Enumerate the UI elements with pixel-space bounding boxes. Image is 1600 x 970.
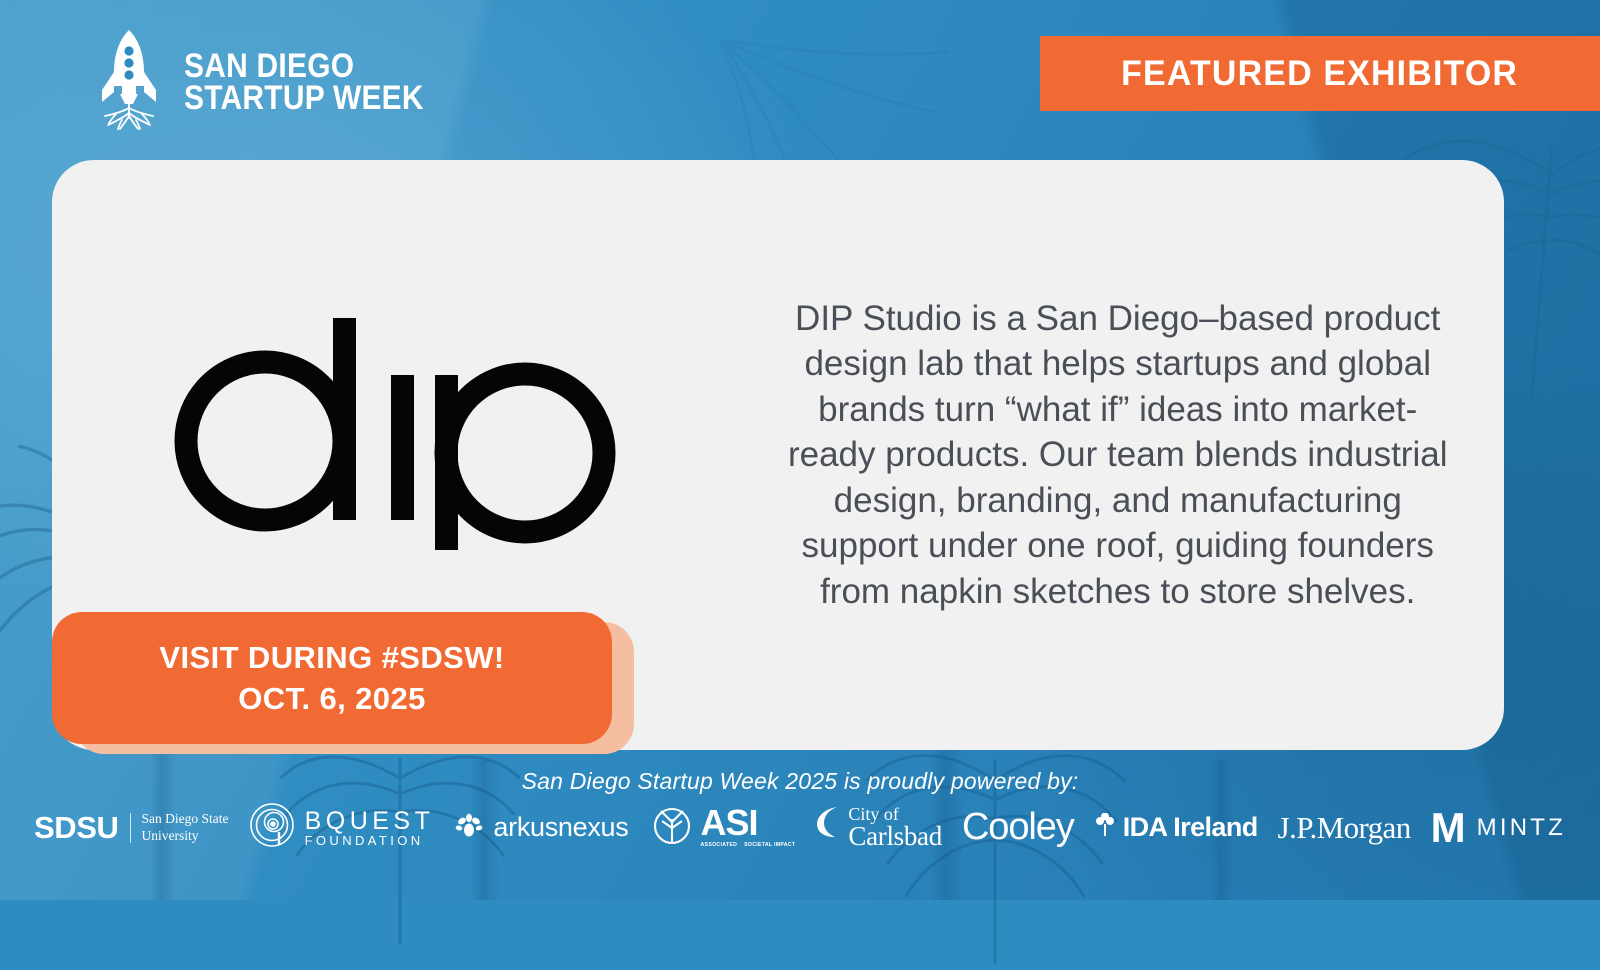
featured-exhibitor-banner: Featured Exhibitor — [1040, 36, 1600, 111]
sdsu-divider — [130, 813, 131, 843]
sdsw-logo: San Diego Startup Week — [92, 28, 456, 137]
sponsor-logo-ida-ireland[interactable]: IDA Ireland — [1094, 812, 1258, 843]
sdsw-wordmark-line1: San Diego — [184, 51, 424, 83]
bquest-subtitle: FOUNDATION — [305, 834, 435, 848]
mintz-m-icon: M — [1431, 811, 1466, 845]
ida-shamrock-icon — [1094, 813, 1116, 842]
sponsor-logo-jpmorgan[interactable]: J.P.Morgan — [1278, 810, 1411, 846]
arkusnexus-wordmark: arkusnexus — [493, 812, 628, 843]
mintz-wordmark: MINTZ — [1477, 814, 1566, 842]
sponsor-logo-row: SDSU San Diego State University — [0, 802, 1600, 853]
sponsor-logo-cooley[interactable]: Cooley — [962, 806, 1074, 849]
sponsor-logo-mintz[interactable]: M MINTZ — [1431, 811, 1566, 845]
visit-during-sdsw-button[interactable]: Visit During #SDSW! Oct. 6, 2025 — [52, 612, 612, 744]
bquest-wordmark: BQUEST — [305, 808, 435, 834]
sponsor-footer: San Diego Startup Week 2025 is proudly p… — [0, 760, 1600, 900]
sponsor-logo-bquest[interactable]: BQUEST FOUNDATION — [249, 802, 435, 853]
featured-exhibitor-label: Featured Exhibitor — [1122, 54, 1519, 94]
visit-cta-wrapper: Visit During #SDSW! Oct. 6, 2025 — [52, 612, 612, 744]
asi-subtitle-line1: ASSOCIATED — [701, 842, 738, 848]
asi-subtitle-line2: SOCIETAL IMPACT — [744, 842, 795, 848]
company-description-pane: DIP Studio is a San Diego–based product … — [763, 160, 1504, 750]
arkusnexus-bug-icon — [454, 810, 484, 845]
bquest-spiral-icon — [249, 802, 295, 853]
sdsu-subtitle: San Diego State University — [142, 811, 229, 844]
carlsbad-crescent-icon — [815, 805, 843, 844]
sponsor-logo-arkusnexus[interactable]: arkusnexus — [454, 810, 628, 845]
asi-tree-icon — [649, 802, 695, 853]
cooley-wordmark: Cooley — [962, 806, 1074, 849]
ida-ireland-wordmark: IDA Ireland — [1123, 812, 1258, 843]
cta-line-1: Visit During #SDSW! — [159, 640, 504, 676]
sponsor-logo-city-of-carlsbad[interactable]: City of Carlsbad — [815, 805, 942, 850]
sdsu-wordmark: SDSU — [34, 810, 119, 846]
company-description: DIP Studio is a San Diego–based product … — [787, 296, 1448, 615]
carlsbad-line2: Carlsbad — [848, 823, 942, 850]
sponsor-logo-asi[interactable]: ASI ASSOCIATED SOCIETAL IMPACT — [649, 802, 796, 853]
sdsw-wordmark-line2: Startup Week — [184, 83, 424, 115]
sdsw-wordmark: San Diego Startup Week — [184, 51, 424, 114]
asi-wordmark: ASI — [701, 807, 796, 839]
powered-by-tagline: San Diego Startup Week 2025 is proudly p… — [0, 768, 1600, 795]
sponsor-logo-sdsu[interactable]: SDSU San Diego State University — [34, 810, 229, 846]
cta-line-2: Oct. 6, 2025 — [238, 681, 425, 717]
sdsu-subtitle-line2: University — [142, 828, 229, 844]
sdsu-subtitle-line1: San Diego State — [142, 811, 229, 827]
rocket-with-roots-icon — [92, 28, 166, 137]
jpmorgan-wordmark: J.P.Morgan — [1278, 810, 1411, 846]
dip-company-logo — [173, 303, 643, 568]
